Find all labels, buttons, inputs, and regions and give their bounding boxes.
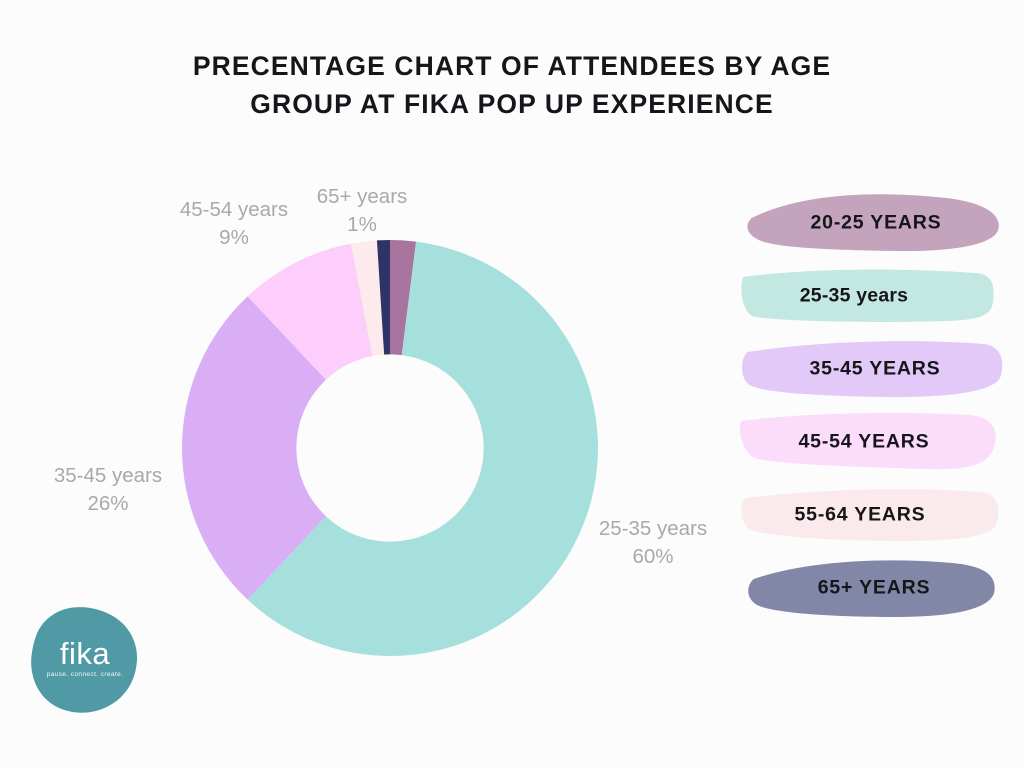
- slice-label-65-plus-pct: 1%: [302, 211, 422, 239]
- legend-label-3: 35-45 YEARS: [740, 358, 1010, 381]
- donut-hole: [296, 354, 483, 541]
- legend-item-25-35-years[interactable]: 25-35 years: [737, 265, 1007, 327]
- legend-label-5: 55-64 YEARS: [725, 504, 995, 527]
- slice-label-35-45-pct: 26%: [40, 490, 176, 518]
- legend-item-65+-years[interactable]: 65+ YEARS: [737, 557, 1007, 619]
- page-title: PRECENTAGE CHART OF ATTENDEES BY AGE GRO…: [0, 48, 1024, 123]
- slice-label-45-54-pct: 9%: [168, 224, 300, 252]
- legend-item-20-25-years[interactable]: 20-25 YEARS: [737, 192, 1007, 254]
- legend-item-45-54-years[interactable]: 45-54 YEARS: [737, 411, 1007, 473]
- legend-label-2: 25-35 years: [719, 285, 989, 308]
- legend-label-4: 45-54 YEARS: [729, 431, 999, 454]
- legend-label-1: 20-25 YEARS: [741, 212, 1011, 235]
- legend-item-35-45-years[interactable]: 35-45 YEARS: [737, 338, 1007, 400]
- slice-label-35-45-name: 35-45 years: [40, 462, 176, 490]
- slice-label-25-35-name: 25-35 years: [588, 515, 718, 543]
- donut-chart-svg: [182, 240, 598, 656]
- slice-label-45-54-name: 45-54 years: [168, 196, 300, 224]
- logo-wordmark: fika: [26, 638, 144, 669]
- logo-tagline: pause. connect. create.: [26, 672, 144, 679]
- slice-label-35-45: 35-45 years 26%: [40, 462, 176, 517]
- legend-item-55-64-years[interactable]: 55-64 YEARS: [737, 484, 1007, 546]
- title-line-1: PRECENTAGE CHART OF ATTENDEES BY AGE: [0, 48, 1024, 86]
- slice-label-25-35: 25-35 years 60%: [588, 515, 718, 570]
- fika-logo: fika pause. connect. create.: [26, 600, 144, 718]
- title-line-2: GROUP AT FIKA POP UP EXPERIENCE: [0, 86, 1024, 124]
- slice-label-45-54: 45-54 years 9%: [168, 196, 300, 251]
- slice-label-25-35-pct: 60%: [588, 543, 718, 571]
- donut-chart: [182, 240, 598, 656]
- chart-legend: 20-25 YEARS25-35 years35-45 YEARS45-54 Y…: [737, 192, 1007, 630]
- legend-label-6: 65+ YEARS: [739, 577, 1009, 600]
- slice-label-65-plus-name: 65+ years: [302, 183, 422, 211]
- slice-label-65-plus: 65+ years 1%: [302, 183, 422, 238]
